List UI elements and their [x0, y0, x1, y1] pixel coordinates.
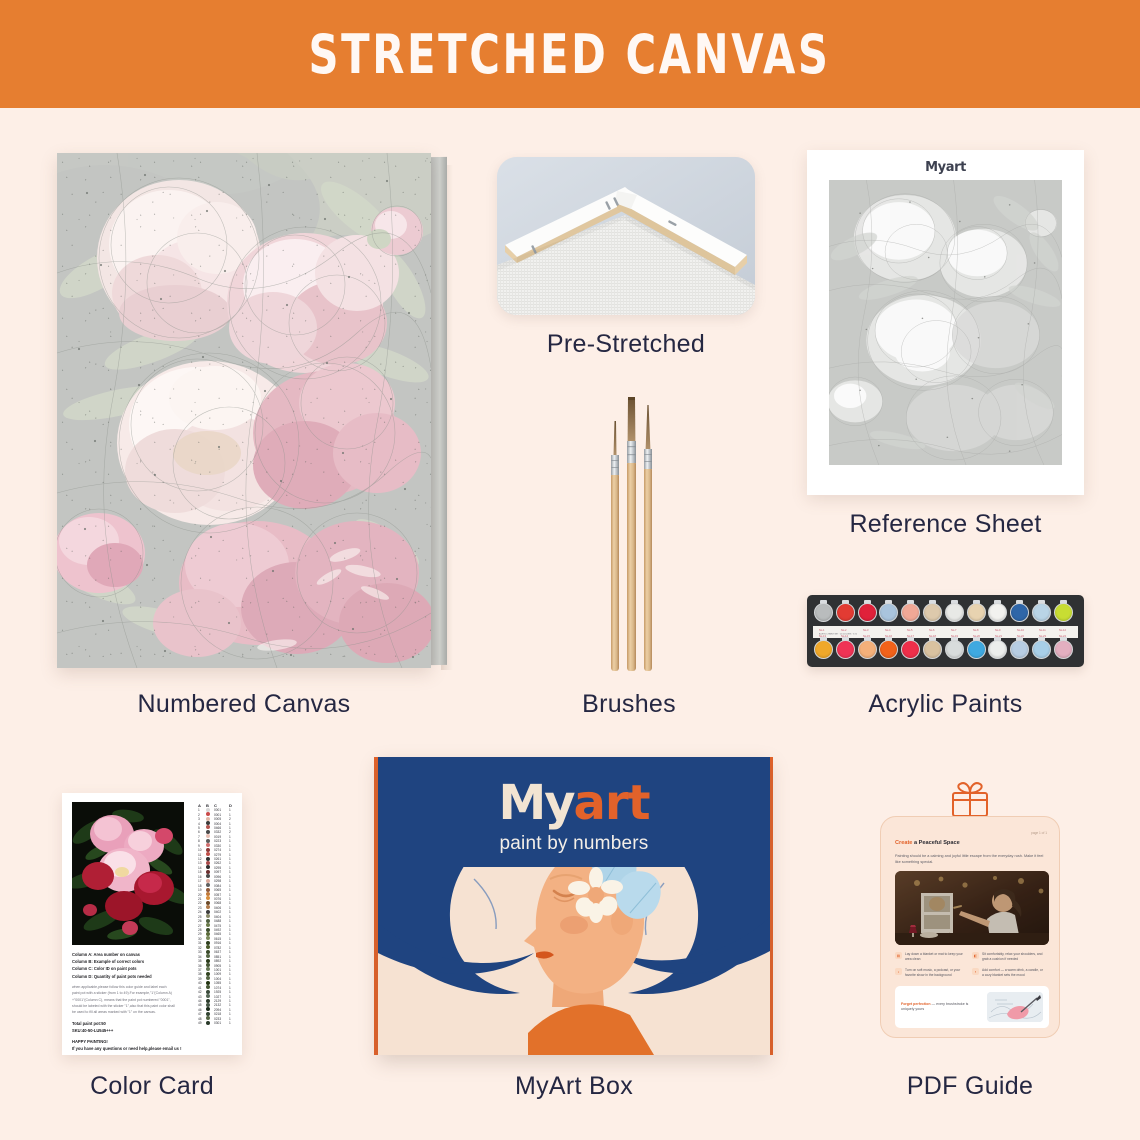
pot-quantity: 1 [229, 839, 237, 843]
area-number: 29 [198, 932, 206, 936]
color-swatch [206, 830, 210, 834]
canvas-corner-photo [497, 157, 755, 315]
area-number: 46 [198, 1008, 206, 1012]
area-number: 20 [198, 893, 206, 897]
color-swatch [206, 812, 210, 816]
area-number: 42 [198, 990, 206, 994]
candle-icon: ◗ [972, 968, 979, 975]
color-id: 2094 [214, 1008, 229, 1012]
pot-quantity: 1 [229, 977, 237, 981]
color-swatch [206, 976, 210, 980]
color-swatch [206, 1012, 210, 1016]
woman-painting-photo [895, 871, 1049, 945]
color-id: 0402 [214, 910, 229, 914]
pot-quantity: 2 [229, 830, 237, 834]
legend-column-d: Column D: Quantity of paint pots needed [72, 973, 192, 980]
pot-quantity: 1 [229, 941, 237, 945]
color-swatch [206, 923, 210, 927]
myart-logo: Myart [378, 775, 770, 831]
pot-quantity: 1 [229, 986, 237, 990]
callout-text: Forget perfection — every brushstroke is… [901, 1002, 981, 1013]
pdf-tip: ▤Lay down a blanket or mat to keep your … [895, 952, 972, 962]
box-front-face: Myart paint by numbers [378, 757, 770, 1055]
paint-pot [901, 603, 920, 622]
color-id: 0475 [214, 924, 229, 928]
canvas-texture [57, 153, 431, 668]
area-number: 30 [198, 937, 206, 941]
area-number: 16 [198, 875, 206, 879]
color-id: 0218 [214, 1012, 229, 1016]
pot-quantity: 1 [229, 893, 237, 897]
area-number: 12 [198, 857, 206, 861]
color-swatch [206, 905, 210, 909]
woman-with-blue-hair-illustration [378, 867, 770, 1055]
color-card-image: Column A: Area number on canvas Column B… [62, 793, 242, 1055]
pot-quantity: 1 [229, 950, 237, 954]
color-id: 1004 [214, 977, 229, 981]
color-swatch [206, 945, 210, 949]
pot-quantity: 1 [229, 844, 237, 848]
color-swatch [206, 901, 210, 905]
area-number: 34 [198, 955, 206, 959]
color-id: 0406 [214, 906, 229, 910]
svg-text:No.9: No.9 [995, 628, 1001, 632]
paint-pot [836, 603, 855, 622]
pdf-tip: ◗Add comfort — a warm drink, a candle, o… [972, 968, 1049, 978]
color-swatch [206, 839, 210, 843]
stretcher-bar-illustration [497, 157, 755, 315]
color-id: 0298 [214, 879, 229, 883]
caption-myart-box: MyArt Box [378, 1072, 770, 1101]
reference-sheet-image: Myart [807, 150, 1084, 495]
area-number: 13 [198, 861, 206, 865]
area-number: 43 [198, 995, 206, 999]
pot-quantity: 1 [229, 910, 237, 914]
pot-quantity: 1 [229, 946, 237, 950]
area-number: 23 [198, 906, 206, 910]
pdf-title-rest: a Peaceful Space [912, 840, 959, 846]
area-number: 40 [198, 981, 206, 985]
area-number: 36 [198, 964, 206, 968]
pdf-tip: ♪Turn on soft music, a podcast, or your … [895, 968, 972, 978]
color-id: 0488 [214, 919, 229, 923]
color-card-paper: Column A: Area number on canvas Column B… [62, 793, 242, 1055]
logo-my-text: My [498, 775, 573, 831]
svg-text:No.6: No.6 [929, 628, 935, 632]
area-number: 2 [198, 813, 206, 817]
svg-text:No.7: No.7 [951, 628, 957, 632]
reference-sheet-artwork [829, 180, 1062, 465]
color-id: 0223 [214, 839, 229, 843]
area-number: 48 [198, 1017, 206, 1021]
svg-text:ACRYLIC PAINT SET · 24 COLORS: ACRYLIC PAINT SET · 24 COLORS · 3 ml [819, 632, 857, 635]
color-swatch [206, 950, 210, 954]
paint-pot [814, 603, 833, 622]
area-number: 32 [198, 946, 206, 950]
brushes-image [585, 385, 675, 675]
area-number: 4 [198, 822, 206, 826]
pot-quantity: 1 [229, 955, 237, 959]
reference-sheet-paper: Myart [807, 150, 1084, 495]
svg-text:No.4: No.4 [885, 628, 891, 632]
color-swatch [206, 954, 210, 958]
area-number: 47 [198, 1012, 206, 1016]
color-swatch [206, 852, 210, 856]
color-swatch [206, 808, 210, 812]
svg-text:No.8: No.8 [973, 628, 979, 632]
color-id: 0465 [214, 932, 229, 936]
music-icon: ♪ [895, 968, 902, 975]
color-id: 0295 [214, 866, 229, 870]
color-swatch [206, 999, 210, 1003]
pot-quantity: 1 [229, 1012, 237, 1016]
color-swatch [206, 883, 210, 887]
myart-box-image: Myart paint by numbers [378, 757, 770, 1055]
grayscale-peony-outline [829, 180, 1062, 465]
color-id: 0404 [214, 915, 229, 919]
pot-quantity: 1 [229, 1017, 237, 1021]
color-swatch [206, 821, 210, 825]
color-swatch [206, 1003, 210, 1007]
area-number: 33 [198, 950, 206, 954]
pot-quantity: 1 [229, 875, 237, 879]
area-number: 17 [198, 879, 206, 883]
color-id: 0637 [214, 950, 229, 954]
pot-quantity: 1 [229, 1021, 237, 1025]
paint-pot [988, 603, 1007, 622]
color-id: 1009 [214, 972, 229, 976]
pot-quantity: 1 [229, 928, 237, 932]
brush-flat [627, 397, 636, 671]
box-subtitle: paint by numbers [378, 833, 770, 855]
pdf-tip-text: Add comfort — a warm drink, a candle, or… [982, 968, 1045, 978]
pot-quantity: 1 [229, 981, 237, 985]
color-swatch [206, 874, 210, 878]
color-id: 0261 [214, 857, 229, 861]
color-id: 1925 [214, 990, 229, 994]
page-header: STRETCHED CANVAS [0, 0, 1140, 108]
area-number: 22 [198, 901, 206, 905]
area-number: 9 [198, 844, 206, 848]
pot-quantity: 1 [229, 995, 237, 999]
area-number: 35 [198, 959, 206, 963]
page-title: STRETCHED CANVAS [309, 23, 831, 86]
canvas-wrapped-edge [431, 157, 447, 665]
color-id: 0076 [214, 897, 229, 901]
caption-pdf-guide: PDF Guide [860, 1072, 1080, 1101]
paint-pot [1032, 603, 1051, 622]
color-id: 1027 [214, 995, 229, 999]
svg-text:No.5: No.5 [907, 628, 913, 632]
area-number: 3 [198, 817, 206, 821]
color-swatch [206, 834, 210, 838]
paint-pot [1010, 603, 1029, 622]
pdf-title: Create a Peaceful Space [895, 840, 960, 846]
color-id: 0001 [214, 813, 229, 817]
color-id: 0905 [214, 964, 229, 968]
area-number: 18 [198, 884, 206, 888]
color-id: 0057 [214, 893, 229, 897]
pdf-page-number: page 1 of 1 [1031, 831, 1047, 835]
caption-brushes: Brushes [500, 690, 758, 719]
color-id: 1055 [214, 981, 229, 985]
area-number: 19 [198, 888, 206, 892]
area-number: 6 [198, 830, 206, 834]
color-id: 0782 [214, 946, 229, 950]
pot-quantity: 1 [229, 822, 237, 826]
color-swatch [206, 972, 210, 976]
caption-pre-stretched: Pre-Stretched [497, 330, 755, 359]
pot-quantity: 1 [229, 826, 237, 830]
pot-quantity: 1 [229, 848, 237, 852]
color-swatch [206, 990, 210, 994]
color-id: 1001 [214, 968, 229, 972]
paint-pot [836, 640, 855, 659]
reference-sheet-logo: Myart [807, 160, 1084, 175]
callout-highlight: Forget perfection [901, 1002, 931, 1006]
pot-quantity: 1 [229, 968, 237, 972]
legend-column-b: Column B: Example of correct colors [72, 958, 192, 965]
pot-quantity: 1 [229, 915, 237, 919]
area-number: 37 [198, 968, 206, 972]
caption-color-card: Color Card [40, 1072, 264, 1101]
pdf-tip: ◧Sit comfortably, relax your shoulders, … [972, 952, 1049, 962]
logo-art-text: art [574, 775, 650, 831]
pdf-guide-image: Create a Peaceful Space page 1 of 1 Pain… [872, 778, 1068, 1056]
color-id: 0274 [214, 848, 229, 852]
paint-pot [988, 640, 1007, 659]
color-swatch [206, 870, 210, 874]
area-number: 1 [198, 808, 206, 812]
area-number: 49 [198, 1021, 206, 1025]
area-number: 14 [198, 866, 206, 870]
area-number: 21 [198, 897, 206, 901]
brush-liner [611, 421, 619, 671]
color-id: 0892 [214, 959, 229, 963]
color-swatch [206, 959, 210, 963]
color-id: 0851 [214, 955, 229, 959]
caption-acrylic-paints: Acrylic Paints [807, 690, 1084, 719]
paint-pot [814, 640, 833, 659]
pot-quantity: 1 [229, 853, 237, 857]
pot-quantity: 2 [229, 817, 237, 821]
paint-pot [1054, 640, 1073, 659]
color-swatch [206, 928, 210, 932]
color-swatch [206, 1021, 210, 1025]
pot-quantity: 1 [229, 884, 237, 888]
color-id: 0330 [214, 844, 229, 848]
caption-reference-sheet: Reference Sheet [807, 510, 1084, 539]
pot-quantity: 1 [229, 879, 237, 883]
color-id: 0065 [214, 888, 229, 892]
color-swatch [206, 861, 210, 865]
pdf-guide-photo [895, 871, 1049, 945]
pot-quantity: 1 [229, 1003, 237, 1007]
pot-quantity: 1 [229, 937, 237, 941]
blanket-icon: ▤ [895, 952, 902, 959]
pot-quantity: 1 [229, 861, 237, 865]
pot-quantity: 1 [229, 870, 237, 874]
color-swatch [206, 967, 210, 971]
paint-pot [945, 640, 964, 659]
area-number: 45 [198, 1003, 206, 1007]
acrylic-paints-image: No.1No.2No.3 No.4No.5No.6 No.7No.8No.9 N… [807, 595, 1084, 667]
svg-text:No.11: No.11 [1039, 628, 1046, 632]
color-id: 0262 [214, 861, 229, 865]
pot-quantity: 1 [229, 959, 237, 963]
paint-pot [879, 640, 898, 659]
paint-pot [923, 640, 942, 659]
pot-quantity: 1 [229, 990, 237, 994]
color-swatch [206, 892, 210, 896]
pdf-subtitle: Painting should be a calming and joyful … [895, 853, 1049, 865]
sku-code: SKU:40-50-LU545+++ [72, 1027, 192, 1034]
paint-tray: No.1No.2No.3 No.4No.5No.6 No.7No.8No.9 N… [807, 595, 1084, 667]
color-swatch [206, 914, 210, 918]
color-swatch [206, 843, 210, 847]
color-id: 0096 [214, 875, 229, 879]
color-id: 0301 [214, 1021, 229, 1025]
pot-quantity: 1 [229, 888, 237, 892]
color-swatch [206, 888, 210, 892]
color-id: 2132 [214, 1003, 229, 1007]
color-id: 0615 [214, 937, 229, 941]
color-swatch [206, 865, 210, 869]
caption-numbered-canvas: Numbered Canvas [57, 690, 431, 719]
pdf-tips-list: ▤Lay down a blanket or mat to keep your … [895, 952, 1049, 984]
svg-text:No.10: No.10 [1017, 628, 1024, 632]
pdf-callout: Forget perfection — every brushstroke is… [895, 986, 1049, 1028]
pot-quantity: 1 [229, 866, 237, 870]
area-number: 31 [198, 941, 206, 945]
color-swatch [206, 857, 210, 861]
color-swatch [206, 941, 210, 945]
svg-text:No.3: No.3 [863, 628, 869, 632]
pot-quantity: 1 [229, 835, 237, 839]
color-id: 2129 [214, 999, 229, 1003]
pdf-guide-page: Create a Peaceful Space page 1 of 1 Pain… [880, 816, 1060, 1038]
three-paint-brushes [585, 385, 675, 675]
pot-quantity: 1 [229, 919, 237, 923]
pot-quantity: 1 [229, 964, 237, 968]
color-id: 0068 [214, 901, 229, 905]
color-swatch [206, 932, 210, 936]
area-number: 27 [198, 924, 206, 928]
color-swatch [206, 936, 210, 940]
color-swatch [206, 963, 210, 967]
color-swatch-cell [206, 1021, 214, 1026]
numbered-canvas-image [57, 153, 447, 668]
area-number: 15 [198, 870, 206, 874]
pot-quantity: 1 [229, 808, 237, 812]
pot-quantity: 1 [229, 901, 237, 905]
color-card-table: A B C D 10001120001130005240004150466160… [198, 803, 238, 1025]
color-swatch [206, 848, 210, 852]
legend-column-c: Column C: Color ID on paint pots [72, 965, 192, 972]
pot-quantity: 1 [229, 932, 237, 936]
color-id: 0279 [214, 853, 229, 857]
peony-reference-photo [72, 802, 184, 945]
pot-quantity: 1 [229, 1008, 237, 1012]
paint-pot [858, 603, 877, 622]
pot-quantity: 1 [229, 857, 237, 861]
area-number: 44 [198, 999, 206, 1003]
color-swatch [206, 919, 210, 923]
color-id: 0004 [214, 822, 229, 826]
paint-pot [967, 603, 986, 622]
area-number: 11 [198, 853, 206, 857]
color-swatch [206, 910, 210, 914]
paint-pot [858, 640, 877, 659]
color-swatch [206, 896, 210, 900]
legend-column-a: Column A: Area number on canvas [72, 951, 192, 958]
canvas-front-face [57, 153, 431, 668]
area-number: 41 [198, 986, 206, 990]
brush-round [644, 405, 652, 671]
color-id: 0001 [214, 808, 229, 812]
color-swatch [206, 817, 210, 821]
color-card-row: 4903011 [198, 1021, 238, 1025]
cushion-icon: ◧ [972, 952, 979, 959]
area-number: 24 [198, 910, 206, 914]
area-number: 26 [198, 919, 206, 923]
color-id: 0466 [214, 826, 229, 830]
paint-pot [879, 603, 898, 622]
area-number: 5 [198, 826, 206, 830]
color-id: 0332 [214, 830, 229, 834]
color-id: 0916 [214, 941, 229, 945]
svg-text:No.1: No.1 [819, 628, 825, 632]
svg-text:No.12: No.12 [1059, 628, 1066, 632]
total-paint-pot: Total paint pot:50 [72, 1020, 192, 1027]
area-number: 28 [198, 928, 206, 932]
color-id: 0233 [214, 1017, 229, 1021]
pdf-title-highlight: Create [895, 840, 912, 846]
color-swatch [206, 994, 210, 998]
color-card-instructions: Column A: Area number on canvas Column B… [72, 951, 192, 1053]
paint-pot [1032, 640, 1051, 659]
area-number: 10 [198, 848, 206, 852]
color-swatch [206, 1007, 210, 1011]
svg-text:No.2: No.2 [841, 628, 847, 632]
pot-quantity: 1 [229, 972, 237, 976]
contact-line: If you have any questions or need help,p… [72, 1045, 192, 1052]
pot-quantity: 1 [229, 999, 237, 1003]
pdf-tip-text: Turn on soft music, a podcast, or your f… [905, 968, 968, 978]
callout-image [987, 992, 1043, 1022]
happy-painting: HAPPY PAINTING! [72, 1038, 192, 1045]
pdf-tip-text: Sit comfortably, relax your shoulders, a… [982, 952, 1045, 962]
color-swatch [206, 879, 210, 883]
area-number: 8 [198, 839, 206, 843]
paint-pot [1010, 640, 1029, 659]
color-swatch [206, 1016, 210, 1020]
paint-pot [901, 640, 920, 659]
area-number: 38 [198, 972, 206, 976]
pot-quantity: 1 [229, 813, 237, 817]
color-swatch [206, 825, 210, 829]
paint-pot [1054, 603, 1073, 622]
color-id: 0084 [214, 884, 229, 888]
color-card-photo [72, 802, 184, 945]
area-number: 7 [198, 835, 206, 839]
color-id: 0097 [214, 870, 229, 874]
area-number: 39 [198, 977, 206, 981]
area-number: 25 [198, 915, 206, 919]
pdf-tip-text: Lay down a blanket or mat to keep your a… [905, 952, 968, 962]
color-swatch [206, 981, 210, 985]
paint-pot [967, 640, 986, 659]
